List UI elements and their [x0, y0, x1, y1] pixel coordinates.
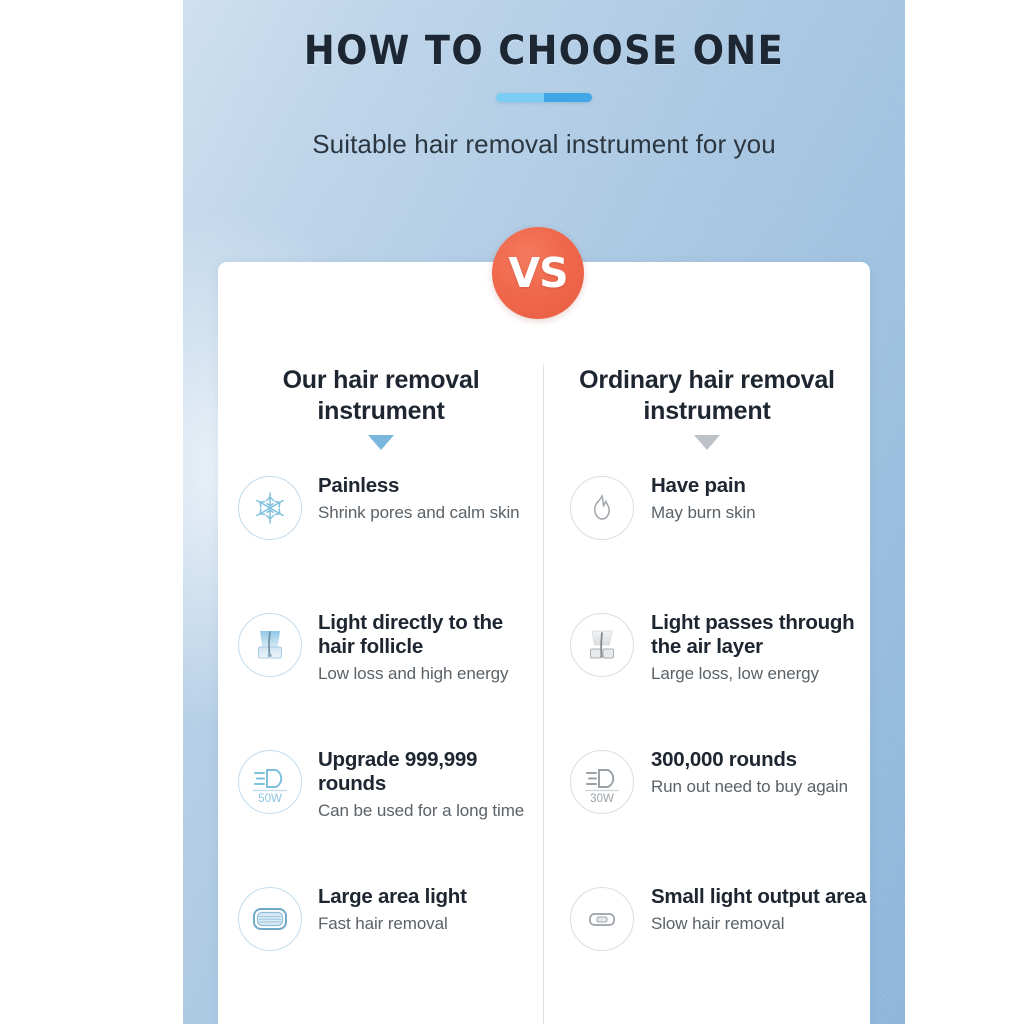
feature-text: Painless Shrink pores and calm skin: [302, 472, 520, 523]
title-divider-bar: [496, 93, 592, 102]
chevron-down-icon: [694, 435, 720, 450]
feature-text: Light directly to the hair follicle Low …: [302, 609, 544, 684]
feature-text: Small light output area Slow hair remova…: [634, 883, 866, 934]
feature-title: 300,000 rounds: [651, 748, 848, 772]
column-title-our: Our hair removal instrument: [218, 365, 544, 426]
lamp-30w-icon: 30W: [570, 750, 634, 814]
page-title: HOW TO CHOOSE ONE: [212, 28, 876, 74]
feature-title: Light passes through the air layer: [651, 611, 870, 659]
column-ordinary-instrument: Ordinary hair removal instrument Have pa…: [544, 262, 870, 1024]
feature-row: 30W 300,000 rounds Run out need to buy a…: [544, 746, 870, 883]
feature-text: Upgrade 999,999 rounds Can be used for a…: [302, 746, 544, 821]
feature-description: Shrink pores and calm skin: [318, 503, 520, 523]
lamp-watt-label: 30W: [590, 793, 614, 805]
feature-row: Painless Shrink pores and calm skin: [218, 472, 544, 609]
lamp-50w-icon: 50W: [238, 750, 302, 814]
feature-row: Have pain May burn skin: [544, 472, 870, 609]
feature-text: Large area light Fast hair removal: [302, 883, 467, 934]
feature-title: Large area light: [318, 885, 467, 909]
column-title-ordinary: Ordinary hair removal instrument: [544, 365, 870, 426]
vs-badge-label: VS: [508, 249, 567, 297]
feature-description: Can be used for a long time: [318, 801, 544, 821]
feature-list-our: Painless Shrink pores and calm skin: [218, 472, 544, 1020]
feature-row: Light passes through the air layer Large…: [544, 609, 870, 746]
feature-row: Small light output area Slow hair remova…: [544, 883, 870, 1020]
chevron-down-icon: [368, 435, 394, 450]
feature-text: Light passes through the air layer Large…: [634, 609, 870, 684]
feature-row: Large area light Fast hair removal: [218, 883, 544, 1020]
feature-title: Small light output area: [651, 885, 866, 909]
vs-badge: VS: [492, 227, 584, 319]
comparison-card: Our hair removal instrument: [218, 262, 870, 1024]
feature-title: Upgrade 999,999 rounds: [318, 748, 544, 796]
header: HOW TO CHOOSE ONE Suitable hair removal …: [183, 0, 905, 160]
feature-row: 50W Upgrade 999,999 rounds Can be used f…: [218, 746, 544, 883]
feature-title: Have pain: [651, 474, 756, 498]
feature-description: Run out need to buy again: [651, 777, 848, 797]
feature-list-ordinary: Have pain May burn skin: [544, 472, 870, 1020]
feature-text: 300,000 rounds Run out need to buy again: [634, 746, 848, 797]
column-our-instrument: Our hair removal instrument: [218, 262, 544, 1024]
column-header-ordinary: Ordinary hair removal instrument: [544, 262, 870, 450]
small-light-window-icon: [570, 887, 634, 951]
feature-description: Fast hair removal: [318, 914, 467, 934]
feature-description: May burn skin: [651, 503, 756, 523]
large-light-window-icon: [238, 887, 302, 951]
skin-layer-direct-light-icon: [238, 613, 302, 677]
snowflake-icon: [238, 476, 302, 540]
feature-description: Low loss and high energy: [318, 664, 544, 684]
feature-row: Light directly to the hair follicle Low …: [218, 609, 544, 746]
lamp-watt-label: 50W: [258, 793, 282, 805]
page-subtitle: Suitable hair removal instrument for you: [183, 129, 905, 160]
feature-text: Have pain May burn skin: [634, 472, 756, 523]
feature-description: Slow hair removal: [651, 914, 866, 934]
flame-icon: [570, 476, 634, 540]
feature-title: Light directly to the hair follicle: [318, 611, 544, 659]
feature-title: Painless: [318, 474, 520, 498]
skin-layer-air-gap-icon: [570, 613, 634, 677]
feature-description: Large loss, low energy: [651, 664, 870, 684]
